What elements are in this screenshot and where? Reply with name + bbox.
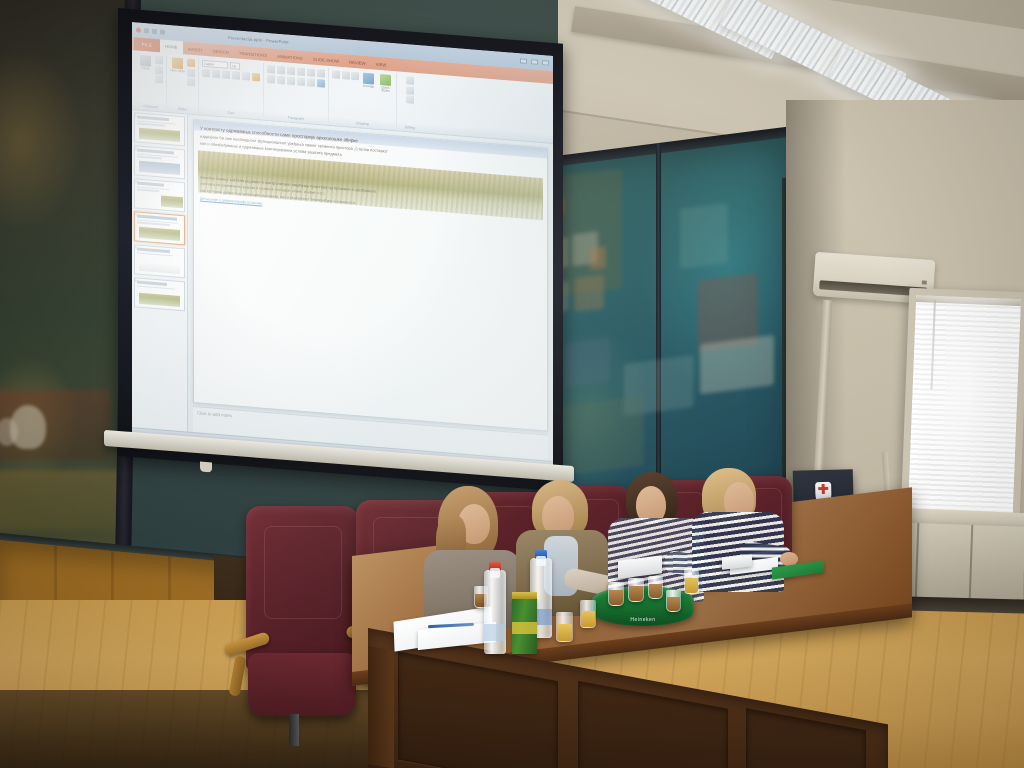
columns-icon[interactable] [307, 78, 315, 87]
water-bottle-red-cap[interactable] [484, 570, 506, 654]
reset-icon[interactable] [187, 68, 195, 77]
document-title: Prezentacija.pptx - PowerPoint [228, 35, 289, 45]
powerpoint-workarea: 1 2 3 [132, 110, 553, 461]
arrange-icon [363, 73, 374, 85]
table-leg [368, 646, 394, 768]
italic-icon[interactable] [212, 70, 220, 79]
arrange-button[interactable]: Arrange [361, 73, 376, 98]
align-right-icon[interactable] [287, 77, 295, 86]
paste-button[interactable]: Paste [138, 55, 153, 80]
numbering-icon[interactable] [277, 66, 285, 75]
close-icon[interactable] [542, 60, 549, 66]
slide-thumbnail-5[interactable]: 5 [134, 244, 185, 278]
start-slideshow-icon[interactable] [160, 29, 165, 34]
shape-oval-icon[interactable] [342, 71, 350, 80]
undo-icon[interactable] [144, 28, 149, 33]
restore-icon[interactable] [531, 59, 538, 65]
ac-led-icon [922, 280, 927, 284]
replace-icon[interactable] [406, 86, 414, 95]
ribbon-group-label-editing: Editing [405, 125, 415, 130]
window-controls [520, 58, 549, 65]
ribbon-group-label-font: Font [228, 111, 235, 116]
decrease-indent-icon[interactable] [287, 67, 295, 76]
wall-mural-left [0, 0, 126, 575]
window-with-blinds [901, 288, 1024, 520]
slide-thumbnail-pane[interactable]: 1 2 3 [132, 110, 188, 432]
shadow-icon[interactable] [232, 71, 240, 80]
ribbon-group-slides: New Slide Slides [167, 55, 199, 113]
slide-thumbnail-1[interactable]: 1 [134, 112, 185, 146]
layout-icon[interactable] [187, 59, 195, 68]
juice-glass-1[interactable] [556, 612, 573, 642]
select-icon[interactable] [406, 95, 414, 104]
slide-thumbnail-2[interactable]: 2 [134, 145, 185, 179]
quick-styles-button[interactable]: Quick Styles [378, 74, 393, 99]
ribbon-group-font: Calibri 18 [199, 58, 264, 118]
participant-1 [414, 486, 524, 616]
ribbon-group-label-drawing: Drawing [356, 121, 368, 126]
cut-icon[interactable] [155, 56, 163, 65]
ribbon-group-label-paragraph: Paragraph [288, 116, 304, 121]
screen-canvas: Prezentacija.pptx - PowerPoint FILE HOME… [132, 22, 553, 479]
projection-screen: Prezentacija.pptx - PowerPoint FILE HOME… [118, 8, 563, 494]
current-slide[interactable]: У контексту одржавања способности саме п… [193, 119, 548, 432]
bullets-icon[interactable] [267, 65, 275, 74]
notes-placeholder: Click to add notes [197, 410, 232, 418]
font-size-input[interactable]: 18 [230, 62, 240, 70]
screen-border: Prezentacija.pptx - PowerPoint FILE HOME… [118, 8, 563, 492]
line-spacing-icon[interactable] [307, 68, 315, 77]
save-icon[interactable] [136, 27, 141, 32]
bold-icon[interactable] [202, 69, 210, 78]
slide-thumbnail-6[interactable]: 6 [134, 277, 185, 311]
quick-styles-icon [380, 74, 391, 86]
coffee-cup-1[interactable] [608, 582, 624, 606]
align-center-icon[interactable] [277, 76, 285, 85]
minimize-icon[interactable] [520, 58, 527, 64]
tray-brand-label: Heineken [592, 617, 694, 623]
coffee-cup-4[interactable] [666, 590, 681, 612]
screen-pull-hook[interactable] [200, 462, 212, 473]
coffee-cup-3[interactable] [648, 576, 663, 599]
venetian-blinds[interactable] [908, 295, 1021, 513]
convert-smartart-icon[interactable] [317, 79, 325, 88]
ribbon-group-drawing: Arrange Quick Styles Drawing [329, 68, 397, 128]
ribbon-group-clipboard: Paste Clipboard [135, 52, 167, 110]
justify-icon[interactable] [297, 77, 305, 86]
shape-rect-icon[interactable] [332, 70, 340, 79]
juice-glass-2[interactable] [580, 600, 596, 628]
font-name-input[interactable]: Calibri [202, 60, 228, 69]
chair-empty-left[interactable] [246, 506, 358, 716]
find-icon[interactable] [406, 76, 414, 85]
slide-thumbnail-3[interactable]: 3 [134, 178, 185, 212]
copy-icon[interactable] [155, 65, 163, 74]
paste-icon [140, 55, 151, 67]
participant-2 [512, 480, 616, 608]
redo-icon[interactable] [152, 29, 157, 34]
new-slide-icon [172, 57, 183, 69]
coffee-cup-2[interactable] [628, 578, 644, 602]
ribbon-group-label-clipboard: Clipboard [143, 104, 158, 109]
text-direction-icon[interactable] [317, 69, 325, 78]
ribbon-group-label-slides: Slides [178, 107, 187, 112]
section-icon[interactable] [187, 78, 195, 87]
slide-link[interactable]: Детаљније у документацији установе [200, 197, 262, 206]
juice-carton[interactable] [512, 598, 537, 654]
shape-arrow-icon[interactable] [351, 72, 359, 81]
underline-icon[interactable] [222, 70, 230, 79]
ribbon-group-paragraph: Paragraph [264, 63, 329, 123]
ribbon-group-editing: Editing [397, 73, 423, 130]
format-painter-icon[interactable] [155, 75, 163, 84]
juice-glass-3[interactable] [684, 568, 699, 594]
slide-editing-pane: У контексту одржавања способности саме п… [188, 115, 553, 461]
slide-thumbnail-4[interactable]: 4 [134, 211, 185, 245]
align-left-icon[interactable] [267, 75, 275, 84]
new-slide-button[interactable]: New Slide [170, 57, 185, 82]
powerpoint-window: Prezentacija.pptx - PowerPoint FILE HOME… [132, 22, 553, 479]
strikethrough-icon[interactable] [242, 72, 250, 81]
increase-indent-icon[interactable] [297, 67, 305, 76]
font-color-icon[interactable] [252, 73, 260, 82]
conference-room-photo: Prezentacija.pptx - PowerPoint FILE HOME… [0, 0, 1024, 768]
